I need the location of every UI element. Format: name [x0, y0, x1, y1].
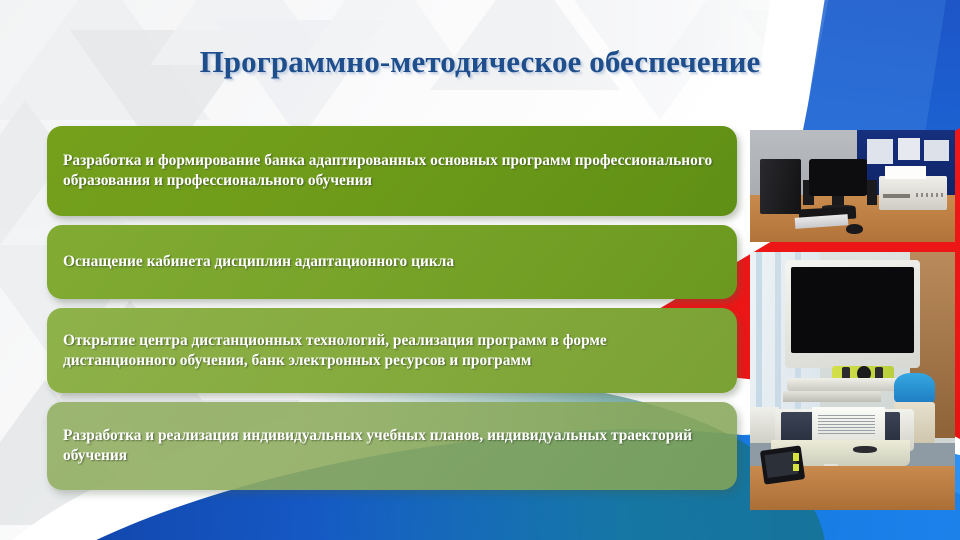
photo-printer-buttons: [916, 193, 945, 197]
photo-support-arm: [787, 378, 900, 391]
photo-blind-slat-2: [775, 252, 781, 422]
photo-support-arm-lower: [783, 391, 881, 401]
photo-speaker-right: [867, 180, 877, 205]
content-card-2-text: Оснащение кабинета дисциплин адаптационн…: [63, 252, 454, 272]
photo-portable-button-1: [793, 453, 799, 461]
content-card-list: Разработка и формирование банка адаптиро…: [47, 126, 737, 499]
content-card-4[interactable]: Разработка и реализация индивидуальных у…: [47, 402, 737, 490]
slide-title: Программно-методическое обеспечение: [0, 44, 960, 80]
content-card-3[interactable]: Открытие центра дистанционных технологий…: [47, 308, 737, 393]
video-magnifier-photo: [750, 252, 955, 510]
photo-water-cooler-top: [894, 373, 935, 404]
photo-paper-2: [898, 138, 921, 160]
photo-paper-3: [924, 140, 949, 161]
content-card-1-text: Разработка и формирование банка адаптиро…: [63, 151, 719, 191]
content-card-4-text: Разработка и реализация индивидуальных у…: [63, 426, 719, 466]
photo-printer-label: [883, 194, 910, 198]
photo-portable-button-2: [793, 464, 799, 472]
photo-blind-slat-1: [756, 252, 762, 422]
photo-magnifier-screen: [791, 267, 914, 352]
computer-workstation-photo: [750, 130, 955, 242]
content-card-1[interactable]: Разработка и формирование банка адаптиро…: [47, 126, 737, 216]
photo-paper-1: [867, 139, 894, 164]
presentation-slide: Программно-методическое обеспечение Разр…: [0, 0, 960, 540]
photo-printer-paper: [885, 166, 926, 179]
photo-mouse: [846, 224, 862, 234]
photo-book-text: [818, 415, 875, 436]
photo-pc-tower: [760, 159, 801, 214]
photo-monitor: [809, 159, 866, 196]
content-card-3-text: Открытие центра дистанционных технологий…: [63, 331, 719, 371]
photo-device-handle: [853, 446, 878, 454]
content-card-2[interactable]: Оснащение кабинета дисциплин адаптационн…: [47, 225, 737, 299]
